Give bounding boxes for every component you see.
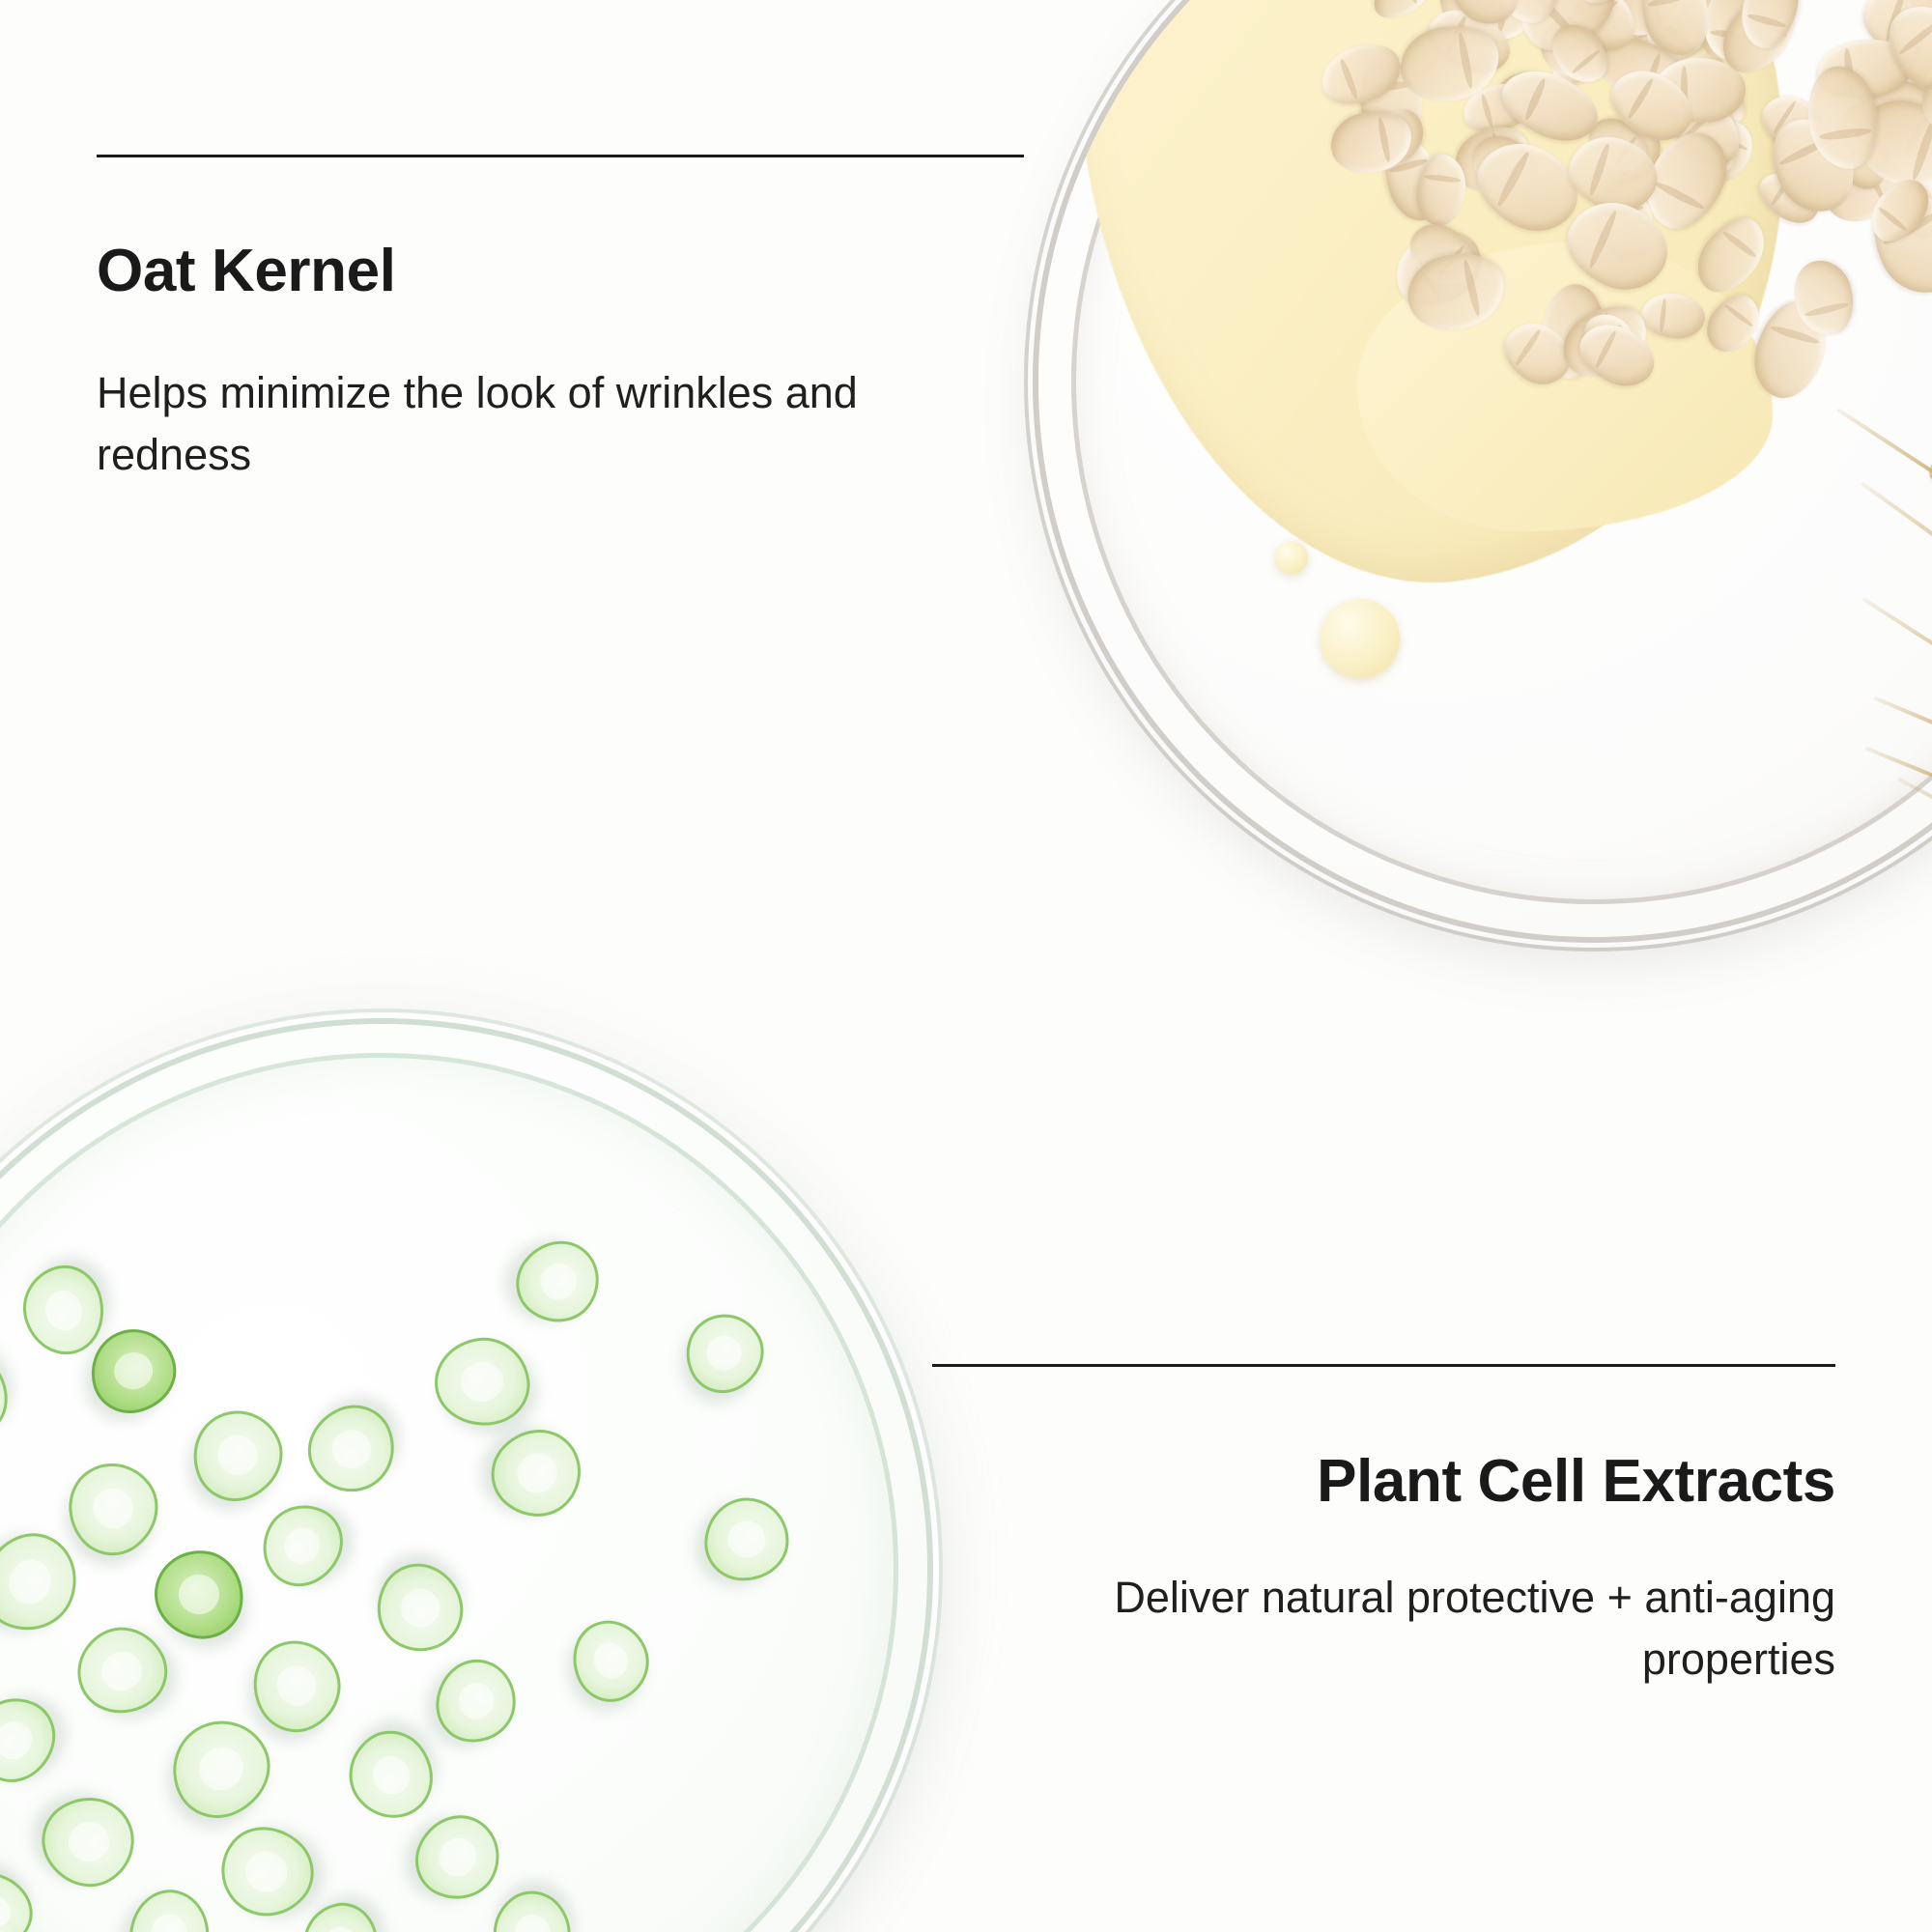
oat-stem [1897,777,1932,895]
oat-kernel-description: Helps minimize the look of wrinkles and … [97,362,889,486]
ingredient-feature-card: Oat Kernel Helps minimize the look of wr… [0,0,1932,1932]
oat-flake [1686,206,1778,303]
oat-stem [1860,482,1932,690]
oil-droplet-small [1275,541,1308,574]
oat-stem [1836,408,1932,561]
plant-cell-extracts-title: Plant Cell Extracts [1317,1447,1835,1516]
oat-grain-stalk [1695,367,1932,908]
oat-flake [1639,291,1707,342]
oat-kernel-divider [97,155,1024,157]
plant-cell-divider [932,1364,1835,1367]
oat-kernel-title: Oat Kernel [97,237,396,305]
oat-grain [1921,417,1932,490]
oat-petri-dish-image [1038,0,1932,937]
oat-flake-cluster [1328,0,1932,406]
plant-cell-extracts-description: Deliver natural protective + anti-aging … [966,1567,1835,1690]
oil-droplet-large [1321,599,1400,678]
oat-stem [1864,746,1932,826]
oat-flake [1366,0,1436,27]
